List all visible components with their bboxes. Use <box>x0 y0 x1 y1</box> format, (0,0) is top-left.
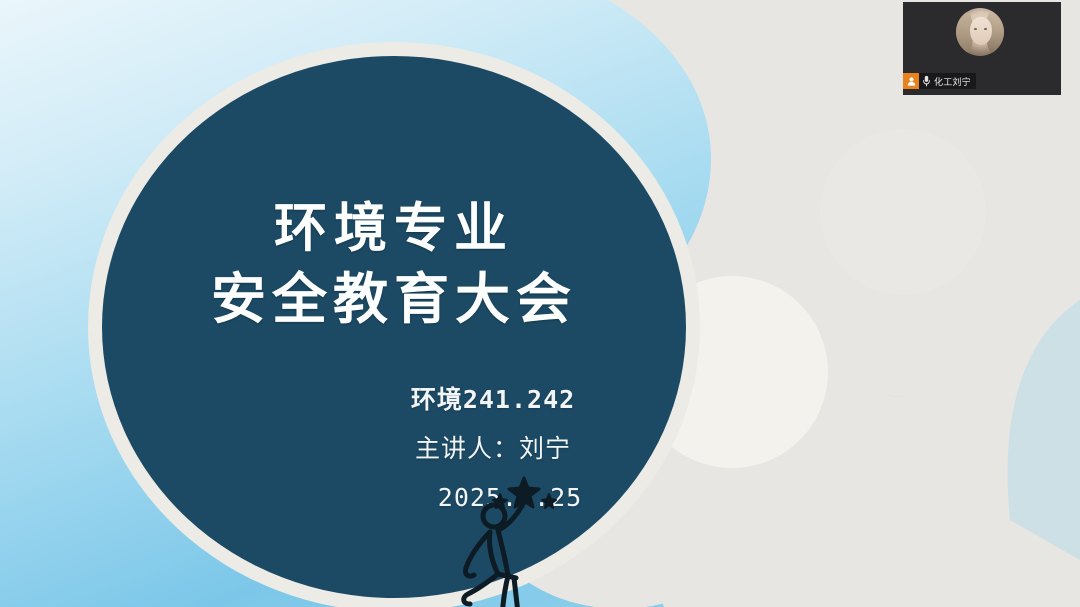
avatar <box>956 8 1004 56</box>
star-small-right <box>542 494 556 508</box>
avatar-eye-left <box>974 28 977 30</box>
avatar-eye-right <box>984 28 987 30</box>
avatar-face <box>970 17 992 45</box>
star-large <box>509 478 539 507</box>
microphone-icon <box>922 75 931 87</box>
title-line-2: 安全教育大会 <box>102 263 686 335</box>
title-line-1: 环境专业 <box>102 194 686 263</box>
page-title: 环境专业 安全教育大会 <box>102 194 686 334</box>
user-icon <box>903 73 919 89</box>
participant-name-chip: 化工刘宁 <box>919 73 976 89</box>
slide-text-group: 环境专业 安全教育大会 环境241.242 主讲人：刘宁 2025.7.25 <box>102 56 686 598</box>
webcam-thumbnail-panel[interactable]: 化工刘宁 <box>903 2 1061 95</box>
subtitle-class: 环境241.242 <box>328 376 658 425</box>
subtitle-speaker: 主讲人：刘宁 <box>328 425 658 474</box>
presentation-screen: 环境专业 安全教育大会 环境241.242 主讲人：刘宁 2025.7.25 <box>0 0 1080 607</box>
running-figure-icon <box>454 468 576 607</box>
participant-name-bar: 化工刘宁 <box>903 73 976 89</box>
blob-gray-circle-small <box>820 129 986 295</box>
participant-name-label: 化工刘宁 <box>934 75 971 88</box>
